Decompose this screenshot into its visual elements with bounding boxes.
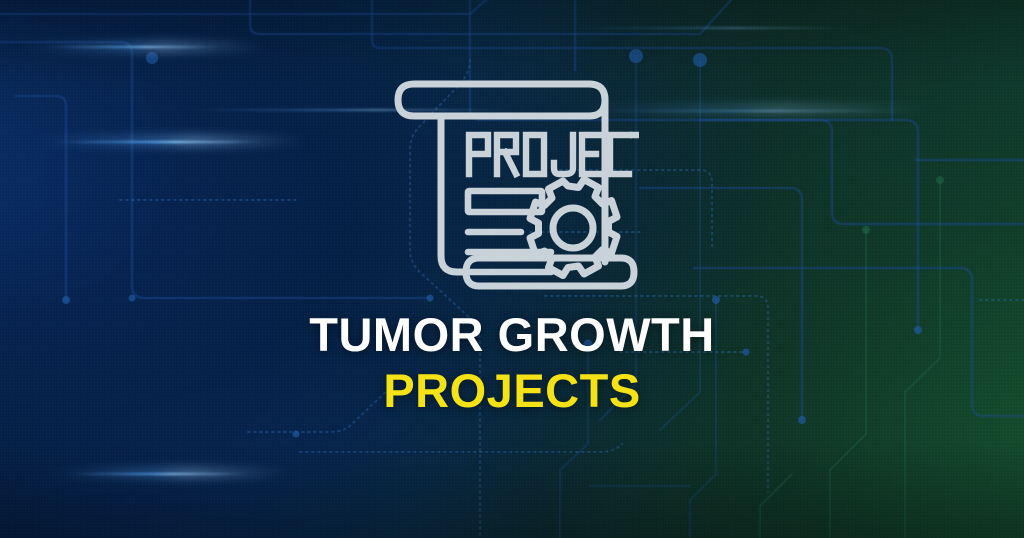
page-title-secondary: PROJECTS: [0, 366, 1024, 416]
banner-graphic: TUMOR GROWTH PROJECTS: [0, 0, 1024, 538]
title-block: TUMOR GROWTH PROJECTS: [0, 310, 1024, 416]
project-scroll-gear-icon: [393, 62, 639, 294]
page-title-primary: TUMOR GROWTH: [0, 310, 1024, 360]
